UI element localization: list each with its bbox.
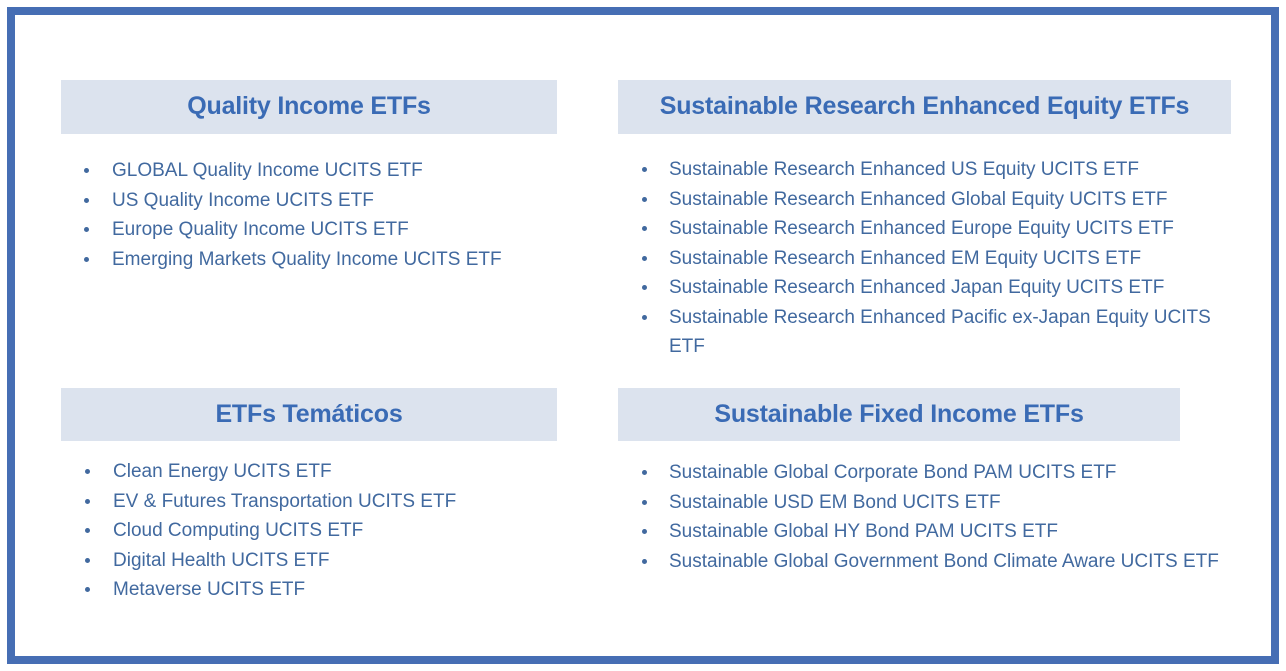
- bullet-icon: [642, 500, 647, 505]
- bullet-icon: [642, 226, 647, 231]
- list-item-label: Emerging Markets Quality Income UCITS ET…: [112, 249, 502, 270]
- panel-quality-income-etfs: Quality Income ETFs GLOBAL Quality Incom…: [61, 80, 565, 274]
- list-item-label: EV & Futures Transportation UCITS ETF: [113, 491, 456, 512]
- list-item-label: Sustainable Research Enhanced Pacific ex…: [669, 307, 1211, 358]
- list-item: Sustainable Research Enhanced Europe Equ…: [636, 214, 1242, 244]
- list-item-label: Sustainable Global HY Bond PAM UCITS ETF: [669, 521, 1058, 542]
- list-item: Sustainable Research Enhanced US Equity …: [636, 155, 1242, 185]
- panel-title: ETFs Temáticos: [215, 401, 402, 429]
- panel-sustainable-fixed-income-etfs: Sustainable Fixed Income ETFs Sustainabl…: [618, 388, 1242, 576]
- list-item-label: US Quality Income UCITS ETF: [112, 190, 374, 211]
- list-item: Digital Health UCITS ETF: [79, 546, 565, 576]
- etf-list-sustainable-research-enhanced-equity-etfs: Sustainable Research Enhanced US Equity …: [636, 155, 1242, 362]
- list-item: Metaverse UCITS ETF: [79, 575, 565, 605]
- bullet-icon: [85, 499, 90, 504]
- bullet-icon: [85, 587, 90, 592]
- panel-header-sustainable-research-enhanced-equity-etfs: Sustainable Research Enhanced Equity ETF…: [618, 80, 1231, 134]
- list-item: Sustainable Global Corporate Bond PAM UC…: [636, 458, 1242, 488]
- bullet-icon: [84, 227, 89, 232]
- list-item: Sustainable Research Enhanced Japan Equi…: [636, 273, 1242, 303]
- bullet-icon: [642, 256, 647, 261]
- etf-list-etfs-tematicos: Clean Energy UCITS ETF EV & Futures Tran…: [79, 457, 565, 605]
- list-item: Clean Energy UCITS ETF: [79, 457, 565, 487]
- bullet-icon: [642, 529, 647, 534]
- list-item-label: Sustainable Global Corporate Bond PAM UC…: [669, 462, 1116, 483]
- panel-header-sustainable-fixed-income-etfs: Sustainable Fixed Income ETFs: [618, 388, 1180, 441]
- list-item-label: Cloud Computing UCITS ETF: [113, 520, 363, 541]
- list-item: Sustainable Research Enhanced Pacific ex…: [636, 303, 1242, 362]
- bullet-icon: [84, 168, 89, 173]
- list-item: Sustainable Global Government Bond Clima…: [636, 547, 1242, 577]
- list-item-label: Sustainable Research Enhanced Japan Equi…: [669, 277, 1164, 298]
- bullet-icon: [84, 198, 89, 203]
- bullet-icon: [642, 167, 647, 172]
- list-item: Sustainable Research Enhanced Global Equ…: [636, 185, 1242, 215]
- list-item: Sustainable Research Enhanced EM Equity …: [636, 244, 1242, 274]
- list-item-label: Sustainable Research Enhanced US Equity …: [669, 159, 1139, 180]
- list-item-label: Clean Energy UCITS ETF: [113, 461, 332, 482]
- list-item-label: Sustainable Research Enhanced EM Equity …: [669, 248, 1141, 269]
- list-item-label: Sustainable Research Enhanced Global Equ…: [669, 189, 1167, 210]
- list-item-label: Sustainable USD EM Bond UCITS ETF: [669, 492, 1001, 513]
- slide-border-frame: Quality Income ETFs GLOBAL Quality Incom…: [7, 7, 1279, 664]
- list-item-label: Sustainable Research Enhanced Europe Equ…: [669, 218, 1174, 239]
- panel-grid: Quality Income ETFs GLOBAL Quality Incom…: [15, 15, 1286, 671]
- panel-etfs-tematicos: ETFs Temáticos Clean Energy UCITS ETF EV…: [61, 388, 565, 605]
- list-item-label: GLOBAL Quality Income UCITS ETF: [112, 160, 423, 181]
- list-item: GLOBAL Quality Income UCITS ETF: [78, 156, 565, 186]
- list-item: Cloud Computing UCITS ETF: [79, 516, 565, 546]
- bullet-icon: [642, 285, 647, 290]
- panel-title: Quality Income ETFs: [187, 93, 430, 121]
- etf-list-quality-income-etfs: GLOBAL Quality Income UCITS ETF US Quali…: [78, 156, 565, 274]
- bullet-icon: [85, 558, 90, 563]
- bullet-icon: [642, 559, 647, 564]
- list-item: Sustainable Global HY Bond PAM UCITS ETF: [636, 517, 1242, 547]
- bullet-icon: [642, 197, 647, 202]
- panel-header-etfs-tematicos: ETFs Temáticos: [61, 388, 557, 441]
- list-item-label: Sustainable Global Government Bond Clima…: [669, 551, 1219, 572]
- bullet-icon: [642, 470, 647, 475]
- bullet-icon: [642, 315, 647, 320]
- panel-title: Sustainable Research Enhanced Equity ETF…: [660, 93, 1189, 121]
- list-item: Sustainable USD EM Bond UCITS ETF: [636, 488, 1242, 518]
- bullet-icon: [85, 528, 90, 533]
- list-item-label: Digital Health UCITS ETF: [113, 550, 329, 571]
- list-item-label: Metaverse UCITS ETF: [113, 579, 305, 600]
- panel-header-quality-income-etfs: Quality Income ETFs: [61, 80, 557, 134]
- list-item: Europe Quality Income UCITS ETF: [78, 215, 565, 245]
- etf-list-sustainable-fixed-income-etfs: Sustainable Global Corporate Bond PAM UC…: [636, 458, 1242, 576]
- bullet-icon: [85, 469, 90, 474]
- slide: Quality Income ETFs GLOBAL Quality Incom…: [0, 0, 1286, 671]
- list-item-label: Europe Quality Income UCITS ETF: [112, 219, 409, 240]
- bullet-icon: [84, 257, 89, 262]
- list-item: Emerging Markets Quality Income UCITS ET…: [78, 245, 565, 275]
- panel-sustainable-research-enhanced-equity-etfs: Sustainable Research Enhanced Equity ETF…: [618, 80, 1242, 362]
- list-item: EV & Futures Transportation UCITS ETF: [79, 487, 565, 517]
- panel-title: Sustainable Fixed Income ETFs: [714, 401, 1083, 429]
- list-item: US Quality Income UCITS ETF: [78, 186, 565, 216]
